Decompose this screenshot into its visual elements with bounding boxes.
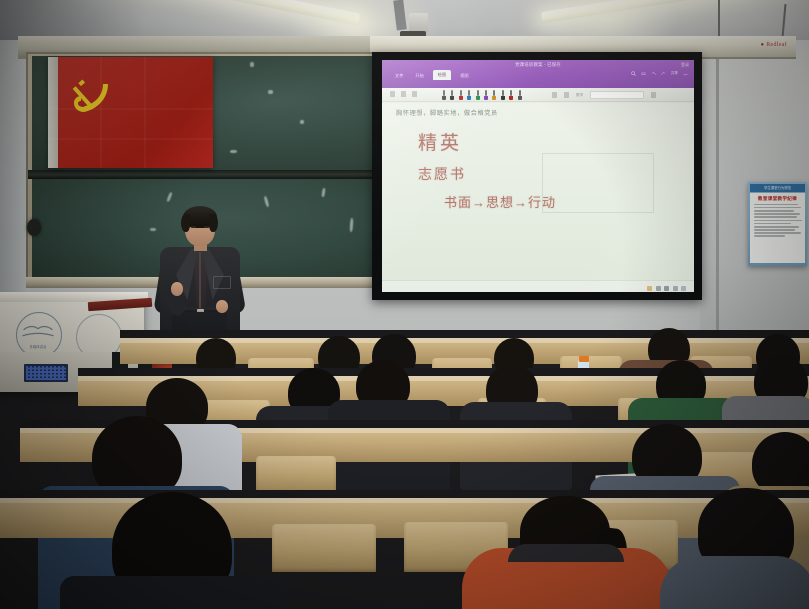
notice-title: 教室课堂教学纪律 bbox=[752, 196, 803, 202]
app-account-label[interactable]: 登录 bbox=[681, 62, 689, 68]
wall-cable-1 bbox=[718, 0, 720, 38]
notice-text-line bbox=[754, 232, 801, 234]
pen-tool[interactable] bbox=[467, 90, 471, 100]
toolbar-right-group: 数学 bbox=[552, 91, 656, 99]
chalk-mark bbox=[268, 90, 273, 94]
notice-text-line bbox=[754, 213, 800, 215]
eraser-icon[interactable] bbox=[401, 91, 406, 97]
folder-icon[interactable] bbox=[647, 286, 652, 291]
teacher-shirt-placket bbox=[199, 252, 201, 310]
valance-brand-label: ● Redleaf bbox=[761, 42, 787, 48]
chalk-mark bbox=[300, 120, 304, 124]
teacher-hair-side-right bbox=[209, 214, 218, 232]
pen-tool[interactable] bbox=[518, 90, 522, 100]
notice-text-line bbox=[754, 204, 798, 206]
seat-back[interactable] bbox=[256, 456, 336, 494]
redo-icon[interactable] bbox=[661, 71, 666, 76]
ribbon-right-controls: 共享 bbox=[631, 71, 688, 76]
flag-hoist-band bbox=[48, 57, 58, 168]
teacher-pointing-hand bbox=[171, 282, 183, 296]
seat-back[interactable] bbox=[272, 524, 376, 572]
notice-text-line bbox=[754, 229, 795, 231]
shapes-icon[interactable] bbox=[552, 92, 557, 98]
pen-tool[interactable] bbox=[476, 90, 480, 100]
ribbon-tab-list: 文件 开始 绘图 视图 bbox=[392, 70, 472, 80]
pen-tool[interactable] bbox=[450, 90, 454, 100]
handwriting-line-3: 书面→思想→行动 bbox=[444, 192, 556, 211]
projection-screen[interactable]: 党课培训教案 - 已保存 登录 文件 开始 绘图 视图 共享 bbox=[382, 60, 694, 292]
ink-to-math-label[interactable]: 数学 bbox=[576, 93, 583, 98]
flag-fold bbox=[48, 138, 213, 140]
clock-icon[interactable] bbox=[681, 286, 686, 291]
page-faint-text: · bbox=[622, 171, 623, 176]
minimize-icon[interactable] bbox=[683, 71, 688, 76]
notice-text-line bbox=[754, 220, 802, 222]
share-label[interactable]: 共享 bbox=[671, 71, 678, 76]
pen-tool[interactable] bbox=[484, 90, 488, 100]
ribbon-tab-draw[interactable]: 绘图 bbox=[433, 70, 451, 80]
desk-row-4-edge bbox=[0, 498, 809, 503]
pen-tool-selected[interactable] bbox=[509, 90, 513, 100]
search-icon[interactable] bbox=[631, 71, 636, 76]
emblem-bird-graphic bbox=[20, 320, 56, 342]
ribbon-tab-view[interactable]: 视图 bbox=[457, 71, 471, 80]
hammer-and-sickle-icon bbox=[66, 72, 122, 122]
teacher-jacket-pocket bbox=[213, 276, 231, 289]
teacher-lowered-hand bbox=[216, 300, 228, 313]
handwriting-line-2: 志愿书 bbox=[418, 164, 466, 184]
notice-text-line bbox=[754, 207, 801, 209]
ceiling-projector bbox=[409, 13, 428, 33]
notice-text-line bbox=[754, 216, 797, 218]
ink-to-text-icon[interactable] bbox=[564, 92, 569, 98]
pen-palette bbox=[442, 90, 522, 100]
teacher-hair-side-left bbox=[181, 214, 190, 232]
lasso-select-icon[interactable] bbox=[390, 91, 395, 97]
ribbon-tab-file[interactable]: 文件 bbox=[392, 71, 406, 80]
pen-tool[interactable] bbox=[492, 90, 496, 100]
print-icon[interactable] bbox=[641, 71, 646, 76]
toolbar-left-group bbox=[390, 91, 417, 97]
page-faint-box bbox=[542, 153, 654, 213]
wall-seam bbox=[716, 40, 719, 340]
tell-me-search-input[interactable] bbox=[590, 91, 644, 99]
chalk-streak bbox=[150, 228, 156, 231]
ime-icon[interactable] bbox=[673, 286, 678, 291]
teacher-eye-right bbox=[204, 226, 209, 228]
replay-icon[interactable] bbox=[651, 92, 656, 98]
add-pen-icon[interactable] bbox=[412, 91, 417, 97]
blackboard-middle-rail bbox=[28, 170, 376, 179]
undo-icon[interactable] bbox=[651, 71, 656, 76]
notice-board-header: 学生课堂行为规范 bbox=[750, 184, 805, 192]
podium-keypad-buttons[interactable] bbox=[26, 366, 66, 380]
pen-tool[interactable] bbox=[442, 90, 446, 100]
notice-text-line bbox=[754, 235, 785, 237]
page-heading: 胸怀理想，脚踏实地，做合格党员 bbox=[396, 108, 498, 117]
podium-emblem-label: 多媒体讲台 bbox=[16, 344, 60, 349]
bottle-cap-orange bbox=[579, 356, 589, 362]
classroom-photo: ● Redleaf 党课培训教案 - 已保存 登录 文件 bbox=[0, 0, 809, 609]
windows-taskbar[interactable] bbox=[382, 280, 694, 292]
taskbar-icon-group bbox=[647, 286, 686, 291]
teacher-eye-left bbox=[191, 226, 196, 228]
wall-speaker bbox=[27, 219, 41, 236]
notice-board-sheet: 教室课堂教学纪律 bbox=[750, 193, 805, 263]
app-title-bar: 党课培训教案 - 已保存 bbox=[382, 62, 694, 68]
pen-tool[interactable] bbox=[459, 90, 463, 100]
network-icon[interactable] bbox=[656, 286, 661, 291]
volume-icon[interactable] bbox=[664, 286, 669, 291]
flag-fold bbox=[144, 57, 146, 168]
pen-tool[interactable] bbox=[501, 90, 505, 100]
chalk-mark bbox=[250, 62, 254, 67]
chalk-mark bbox=[230, 150, 237, 153]
notice-text-line bbox=[754, 226, 799, 228]
notice-text-line bbox=[754, 223, 791, 225]
handwriting-line-1: 精英 bbox=[418, 128, 462, 155]
notice-text-line bbox=[754, 210, 794, 212]
ribbon-tab-home[interactable]: 开始 bbox=[412, 71, 426, 80]
